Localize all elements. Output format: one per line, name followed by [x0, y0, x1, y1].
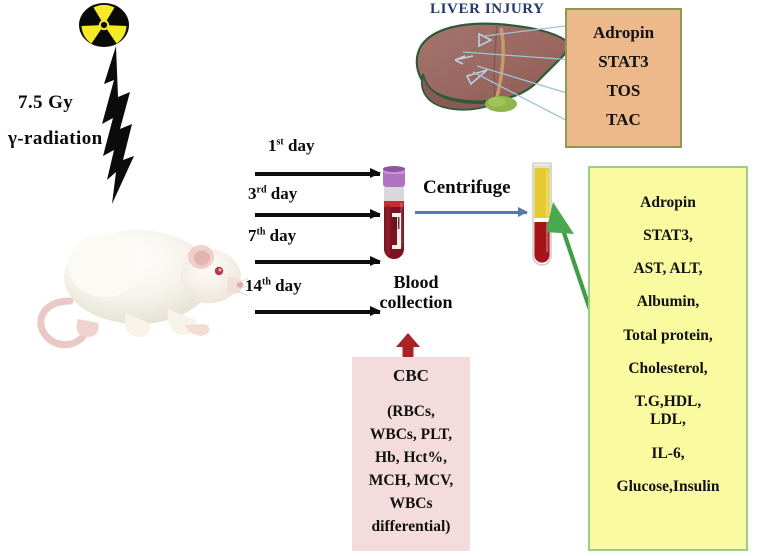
- liver-marker-panel: Adropin STAT3 TOS TAC: [565, 8, 682, 148]
- cbc-item: Hb, Hct%,: [352, 446, 470, 469]
- white-rat-photo: [18, 185, 248, 375]
- timeline-label-1: 1st day: [268, 136, 314, 156]
- timeline-day-number: 14: [245, 276, 262, 295]
- timeline-label-4: 14th day: [245, 276, 302, 296]
- blood-collection-label: Blood collection: [361, 272, 471, 312]
- liver-marker-item: TOS: [567, 76, 680, 105]
- timeline-day-number: 1: [268, 136, 277, 155]
- serum-marker-item: Total protein,: [590, 319, 746, 352]
- centrifuge-label: Centrifuge: [423, 177, 511, 199]
- timeline-day-number: 3: [248, 184, 257, 203]
- timeline-day-unit: day: [288, 136, 314, 155]
- cbc-item: (RBCs,: [352, 400, 470, 423]
- timeline-arrow-3: [255, 256, 380, 267]
- serum-marker-item: Glucose,Insulin: [590, 470, 746, 503]
- liver-marker-item: Adropin: [567, 18, 680, 47]
- serum-marker-item: Cholesterol,: [590, 352, 746, 385]
- serum-marker-list: Adropin STAT3, AST, ALT, Albumin, Total …: [590, 168, 746, 504]
- cbc-item: MCH, MCV,: [352, 469, 470, 492]
- liver-marker-item: STAT3: [567, 47, 680, 76]
- figure-canvas: 7.5 Gy γ-radiation: [0, 0, 757, 556]
- blood-caption-line2: collection: [361, 292, 471, 312]
- timeline-day-suffix: th: [257, 226, 266, 237]
- cbc-list: (RBCs, WBCs, PLT, Hb, Hct%, MCH, MCV, WB…: [352, 386, 470, 539]
- serum-marker-item: LDL,: [590, 411, 746, 437]
- blood-caption-line1: Blood: [361, 272, 471, 292]
- timeline-day-unit: day: [270, 226, 296, 245]
- serum-marker-item: STAT3,: [590, 219, 746, 252]
- timeline-day-number: 7: [248, 226, 257, 245]
- cbc-item: WBCs, PLT,: [352, 423, 470, 446]
- serum-marker-item: Albumin,: [590, 286, 746, 319]
- cbc-title: CBC: [352, 357, 470, 386]
- cbc-item: WBCs: [352, 492, 470, 515]
- cbc-panel: CBC (RBCs, WBCs, PLT, Hb, Hct%, MCH, MCV…: [352, 357, 470, 551]
- timeline-label-2: 3rd day: [248, 184, 297, 204]
- serum-marker-item: Adropin: [590, 186, 746, 219]
- centrifuge-arrow: [415, 207, 527, 217]
- blood-collection-tube-icon: [374, 165, 414, 270]
- timeline-day-suffix: rd: [257, 184, 267, 195]
- serum-marker-item: AST, ALT,: [590, 253, 746, 286]
- timeline-day-suffix: th: [262, 276, 271, 287]
- liver-marker-list: Adropin STAT3 TOS TAC: [567, 10, 680, 134]
- serum-marker-panel: Adropin STAT3, AST, ALT, Albumin, Total …: [588, 166, 748, 551]
- liver-marker-item: TAC: [567, 105, 680, 134]
- serum-marker-item: IL-6,: [590, 437, 746, 470]
- timeline-day-unit: day: [275, 276, 301, 295]
- timeline-label-3: 7th day: [248, 226, 296, 246]
- cbc-item: differential): [352, 516, 470, 539]
- timeline-day-suffix: st: [277, 136, 284, 147]
- serum-marker-item: T.G,HDL,: [590, 386, 746, 412]
- dose-label: 7.5 Gy: [18, 92, 73, 114]
- timeline-arrow-1: [255, 168, 380, 179]
- timeline-day-unit: day: [271, 184, 297, 203]
- timeline-arrow-2: [255, 209, 380, 220]
- radiation-type-label: γ-radiation: [8, 128, 103, 150]
